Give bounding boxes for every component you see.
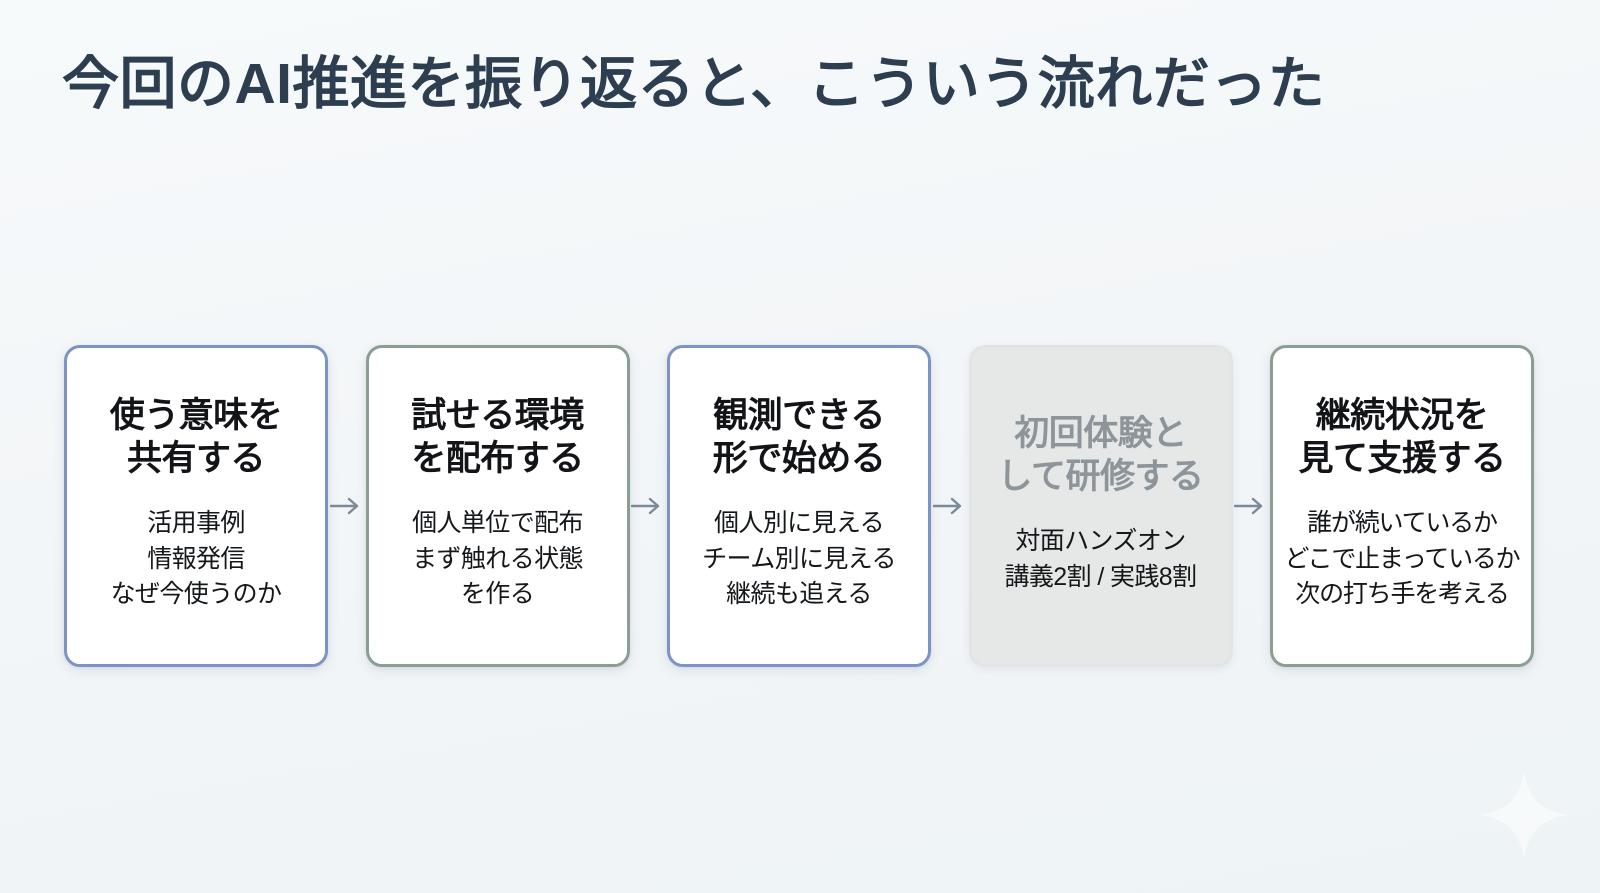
flow-step-card-3[interactable]: 観測できる 形で始める 個人別に見える チーム別に見える 継続も追える bbox=[667, 345, 931, 667]
flow-connector-2 bbox=[630, 491, 668, 521]
flow-step-title-5: 継続状況を 見て支援する bbox=[1298, 395, 1505, 480]
slide-canvas: 今回のAI推進を振り返ると、こういう流れだった 使う意味を 共有する 活用事例 … bbox=[0, 0, 1600, 893]
flow-step-body-3: 個人別に見える チーム別に見える 継続も追える bbox=[702, 506, 896, 613]
flow-step-title-3: 観測できる 形で始める bbox=[713, 395, 886, 480]
arrow-right-icon bbox=[1234, 495, 1268, 517]
flow-step-title-2: 試せる環境 を配布する bbox=[411, 395, 584, 480]
process-flow: 使う意味を 共有する 活用事例 情報発信 なぜ今使うのか 試せる環境 を配布する… bbox=[64, 345, 1534, 667]
flow-step-body-4: 対面ハンズオン 講義2割 / 実践8割 bbox=[1004, 524, 1196, 595]
flow-step-body-5: 誰が続いているか どこで止まっているか 次の打ち手を考える bbox=[1284, 506, 1519, 613]
flow-step-card-5[interactable]: 継続状況を 見て支援する 誰が続いているか どこで止まっているか 次の打ち手を考… bbox=[1270, 345, 1534, 667]
sparkle-icon bbox=[1476, 767, 1572, 863]
flow-step-card-4[interactable]: 初回体験と して研修する 対面ハンズオン 講義2割 / 実践8割 bbox=[969, 345, 1233, 667]
flow-step-card-2[interactable]: 試せる環境 を配布する 個人単位で配布 まず触れる状態 を作る bbox=[366, 345, 630, 667]
page-title: 今回のAI推進を振り返ると、こういう流れだった bbox=[62, 52, 1325, 118]
arrow-right-icon bbox=[330, 495, 364, 517]
flow-step-title-4: 初回体験と して研修する bbox=[998, 413, 1204, 498]
flow-step-title-1: 使う意味を 共有する bbox=[110, 395, 283, 480]
flow-connector-3 bbox=[931, 491, 969, 521]
flow-step-card-1[interactable]: 使う意味を 共有する 活用事例 情報発信 なぜ今使うのか bbox=[64, 345, 328, 667]
arrow-right-icon bbox=[631, 495, 665, 517]
flow-step-body-1: 活用事例 情報発信 なぜ今使うのか bbox=[111, 506, 282, 613]
flow-connector-1 bbox=[328, 491, 366, 521]
arrow-right-icon bbox=[933, 495, 967, 517]
flow-step-body-2: 個人単位で配布 まず触れる状態 を作る bbox=[412, 506, 583, 613]
flow-connector-4 bbox=[1233, 491, 1271, 521]
